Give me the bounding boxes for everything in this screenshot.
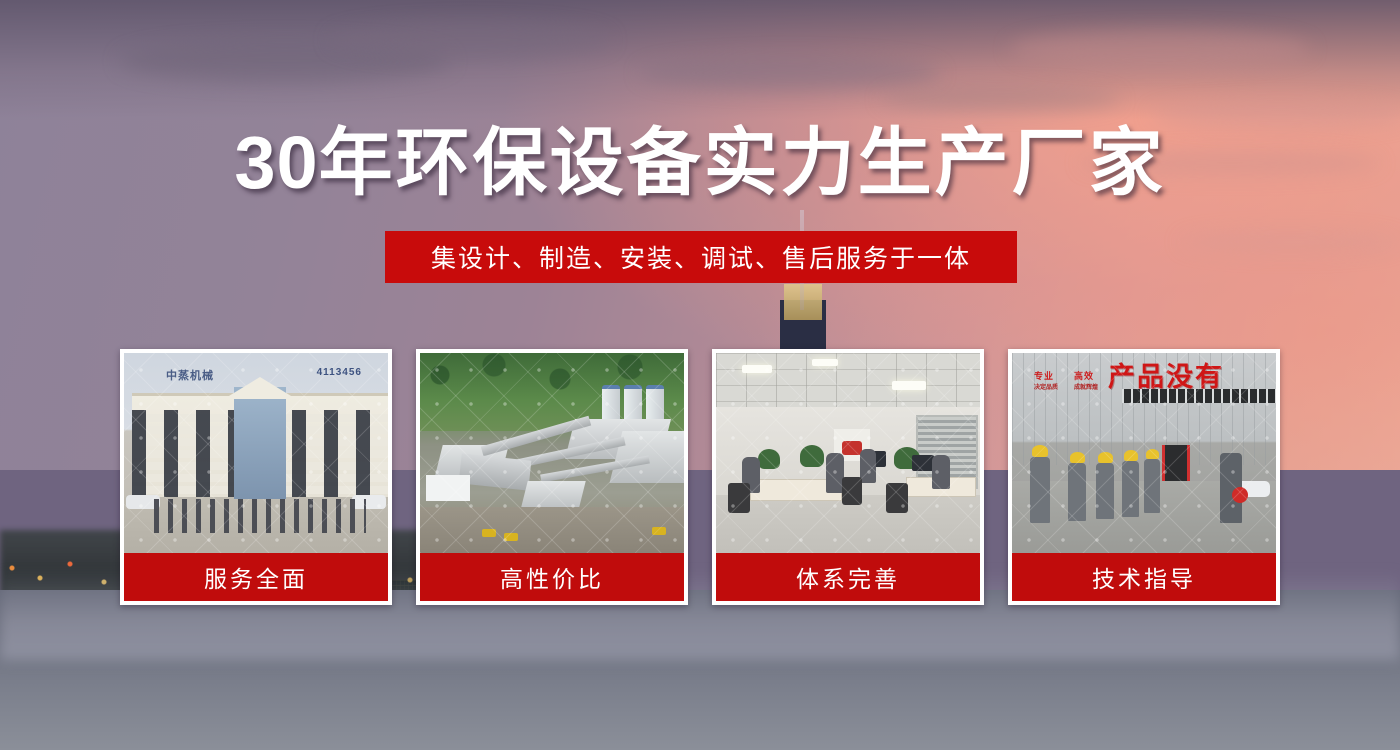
card-label-training: 技术指导 [1012, 553, 1276, 601]
promo-banner: 30年环保设备实力生产厂家 集设计、制造、安装、调试、售后服务于一体 中蒸机械 … [0, 0, 1400, 750]
headline-text: 年环保设备实力生产厂家 [319, 121, 1166, 204]
card-label-system: 体系完善 [716, 553, 980, 601]
feature-card-training[interactable]: 产品没有 专业决定品质 高效成就辉煌 [1008, 349, 1280, 605]
factory-slogan-1: 专业决定品质 [1034, 369, 1058, 391]
feature-card-row: 中蒸机械 4113456 服务全面 [120, 349, 1280, 605]
card-photo-office-interior [716, 353, 980, 553]
building-sign-text: 中蒸机械 [166, 367, 214, 383]
building-sign-tel: 4113456 [317, 367, 362, 378]
card-photo-office-building: 中蒸机械 4113456 [124, 353, 388, 553]
feature-card-service[interactable]: 中蒸机械 4113456 服务全面 [120, 349, 392, 605]
subtitle-banner: 集设计、制造、安装、调试、售后服务于一体 [385, 231, 1017, 283]
factory-slogan-2: 高效成就辉煌 [1074, 369, 1098, 391]
card-label-value: 高性价比 [420, 553, 684, 601]
page-title: 30年环保设备实力生产厂家 [0, 126, 1400, 200]
card-label-service: 服务全面 [124, 553, 388, 601]
feature-card-value[interactable]: 高性价比 [416, 349, 688, 605]
feature-card-system[interactable]: 体系完善 [712, 349, 984, 605]
subtitle-text: 集设计、制造、安装、调试、售后服务于一体 [431, 239, 971, 275]
sky-top-shade [0, 0, 1400, 120]
card-photo-worker-training: 产品没有 专业决定品质 高效成就辉煌 [1012, 353, 1276, 553]
card-photo-plant-aerial [420, 353, 684, 553]
headline-number: 30 [234, 121, 318, 204]
